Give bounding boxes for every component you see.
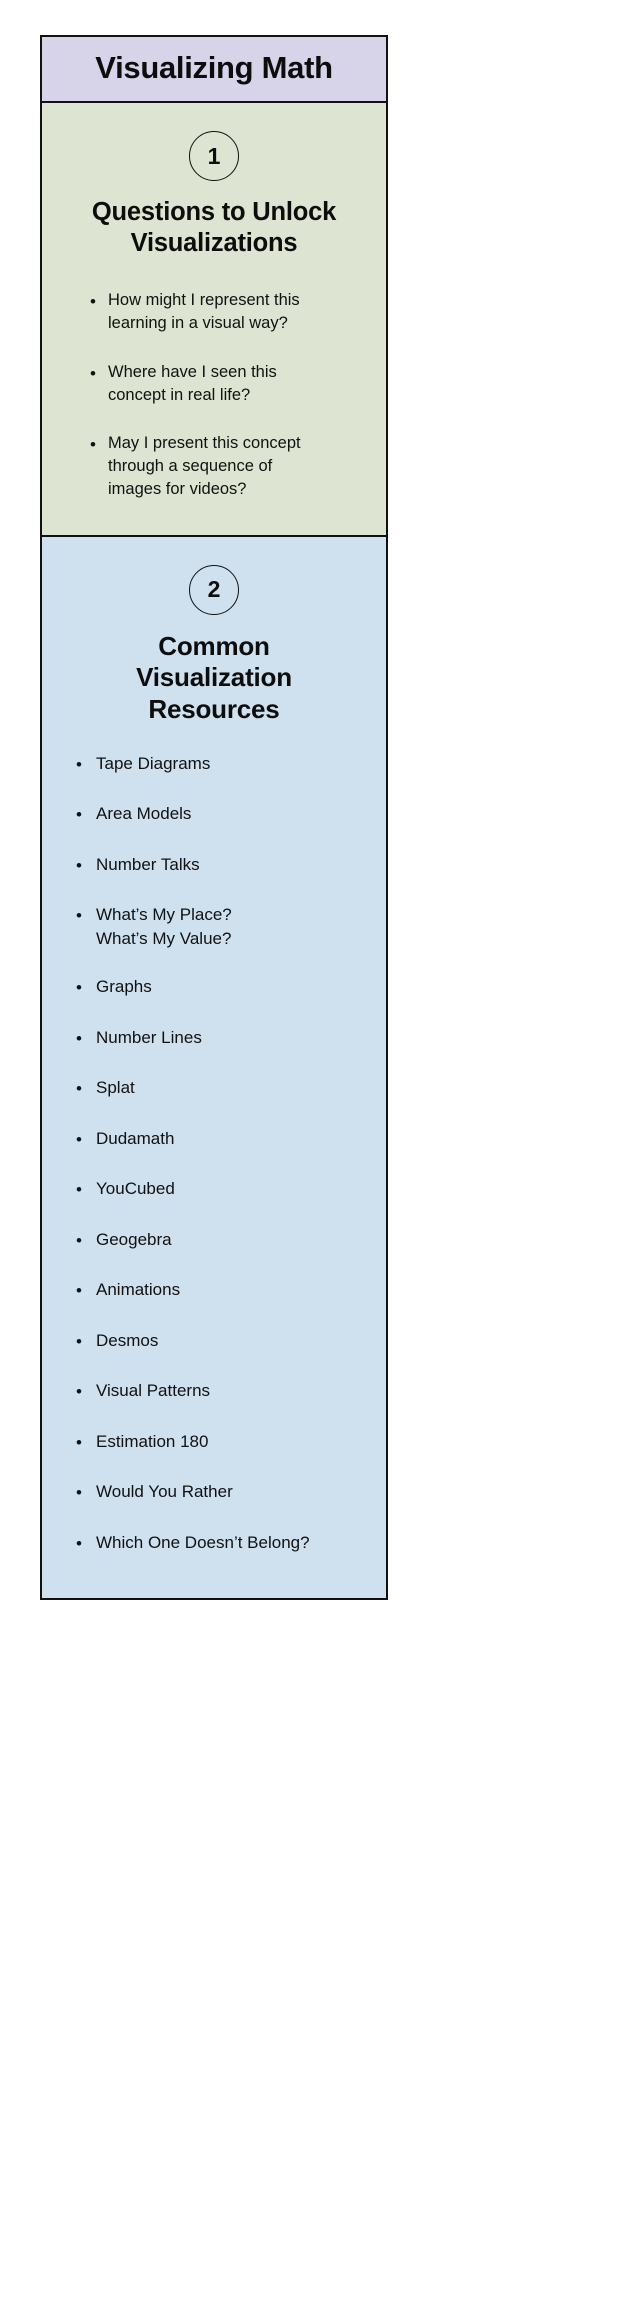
list-item: • Estimation 180 bbox=[62, 1430, 372, 1456]
section-1-number-wrap: 1 bbox=[42, 131, 386, 181]
bullet-icon: • bbox=[78, 361, 108, 387]
list-item-text: Number Talks bbox=[96, 853, 372, 876]
bullet-icon: • bbox=[62, 752, 96, 778]
list-item-line: through a sequence of bbox=[108, 455, 372, 478]
bullet-icon: • bbox=[62, 802, 96, 828]
list-item: • Tape Diagrams bbox=[62, 752, 372, 778]
list-item-text: How might I represent this learning in a… bbox=[108, 289, 372, 335]
list-item: • May I present this concept through a s… bbox=[78, 432, 372, 500]
list-item: • Number Talks bbox=[62, 853, 372, 879]
section-1-title-line-1: Questions to Unlock bbox=[92, 198, 336, 226]
bullet-icon: • bbox=[62, 975, 96, 1001]
section-number-badge-1: 1 bbox=[189, 131, 239, 181]
section-number-badge-2: 2 bbox=[189, 565, 239, 615]
list-item-text: Splat bbox=[96, 1076, 372, 1099]
card-header: Visualizing Math bbox=[42, 37, 386, 103]
bullet-icon: • bbox=[62, 903, 96, 929]
list-item-text: YouCubed bbox=[96, 1177, 372, 1200]
page-title: Visualizing Math bbox=[52, 51, 376, 85]
infographic-page: Visualizing Math 1 Questions to Unlock V… bbox=[0, 0, 620, 2311]
list-item-text: Would You Rather bbox=[96, 1480, 372, 1503]
list-item-text: Dudamath bbox=[96, 1127, 372, 1150]
list-item-text: Tape Diagrams bbox=[96, 752, 372, 775]
list-item: • Would You Rather bbox=[62, 1480, 372, 1506]
list-item-text: What’s My Place? What’s My Value? bbox=[96, 903, 372, 950]
list-item-text: Geogebra bbox=[96, 1228, 372, 1251]
list-item: • What’s My Place? What’s My Value? bbox=[62, 903, 372, 950]
list-item: • Animations bbox=[62, 1278, 372, 1304]
list-item: • Geogebra bbox=[62, 1228, 372, 1254]
questions-list: • How might I represent this learning in… bbox=[42, 289, 386, 500]
list-item-text: Desmos bbox=[96, 1329, 372, 1352]
list-item: • Splat bbox=[62, 1076, 372, 1102]
list-item-line: What’s My Value? bbox=[96, 927, 372, 950]
bullet-icon: • bbox=[62, 1430, 96, 1456]
bullet-icon: • bbox=[62, 1177, 96, 1203]
list-item: • Which One Doesn’t Belong? bbox=[62, 1531, 372, 1557]
section-1-title-line-2: Visualizations bbox=[131, 229, 298, 257]
bullet-icon: • bbox=[62, 1228, 96, 1254]
list-item: • Dudamath bbox=[62, 1127, 372, 1153]
list-item-text: Graphs bbox=[96, 975, 372, 998]
list-item: • Area Models bbox=[62, 802, 372, 828]
section-2-title-line-1: Common bbox=[158, 631, 269, 661]
list-item-text: Where have I seen this concept in real l… bbox=[108, 361, 372, 407]
list-item: • Number Lines bbox=[62, 1026, 372, 1052]
resources-list: • Tape Diagrams • Area Models • Number T… bbox=[42, 752, 386, 1556]
bullet-icon: • bbox=[62, 1026, 96, 1052]
bullet-icon: • bbox=[78, 289, 108, 315]
list-item-line: Where have I seen this bbox=[108, 363, 277, 381]
list-item-line: images for videos? bbox=[108, 478, 372, 501]
section-2-number-wrap: 2 bbox=[42, 565, 386, 615]
list-item: • YouCubed bbox=[62, 1177, 372, 1203]
list-item-line: learning in a visual way? bbox=[108, 312, 372, 335]
section-1-title: Questions to Unlock Visualizations bbox=[42, 197, 386, 259]
list-item-text: Which One Doesn’t Belong? bbox=[96, 1531, 372, 1554]
list-item: • How might I represent this learning in… bbox=[78, 289, 372, 335]
list-item: • Graphs bbox=[62, 975, 372, 1001]
list-item-line: May I present this concept bbox=[108, 434, 301, 452]
bullet-icon: • bbox=[62, 853, 96, 879]
list-item-text: Area Models bbox=[96, 802, 372, 825]
bullet-icon: • bbox=[62, 1076, 96, 1102]
list-item-text: Estimation 180 bbox=[96, 1430, 372, 1453]
section-2-title: Common Visualization Resources bbox=[42, 631, 386, 726]
section-2-title-line-3: Resources bbox=[148, 694, 279, 724]
bullet-icon: • bbox=[62, 1278, 96, 1304]
list-item-text: Visual Patterns bbox=[96, 1379, 372, 1402]
list-item-line: What’s My Place? bbox=[96, 905, 232, 924]
list-item-line: How might I represent this bbox=[108, 291, 300, 309]
bullet-icon: • bbox=[78, 432, 108, 458]
list-item-text: Animations bbox=[96, 1278, 372, 1301]
section-questions: 1 Questions to Unlock Visualizations • H… bbox=[42, 103, 386, 537]
bullet-icon: • bbox=[62, 1379, 96, 1405]
list-item: • Desmos bbox=[62, 1329, 372, 1355]
bullet-icon: • bbox=[62, 1480, 96, 1506]
list-item: • Where have I seen this concept in real… bbox=[78, 361, 372, 407]
list-item-text: May I present this concept through a seq… bbox=[108, 432, 372, 500]
list-item-line: concept in real life? bbox=[108, 384, 372, 407]
section-2-title-line-2: Visualization bbox=[136, 662, 292, 692]
infographic-card: Visualizing Math 1 Questions to Unlock V… bbox=[40, 35, 388, 1600]
bullet-icon: • bbox=[62, 1531, 96, 1557]
section-resources: 2 Common Visualization Resources • Tape … bbox=[42, 537, 386, 1599]
list-item-text: Number Lines bbox=[96, 1026, 372, 1049]
bullet-icon: • bbox=[62, 1127, 96, 1153]
bullet-icon: • bbox=[62, 1329, 96, 1355]
list-item: • Visual Patterns bbox=[62, 1379, 372, 1405]
